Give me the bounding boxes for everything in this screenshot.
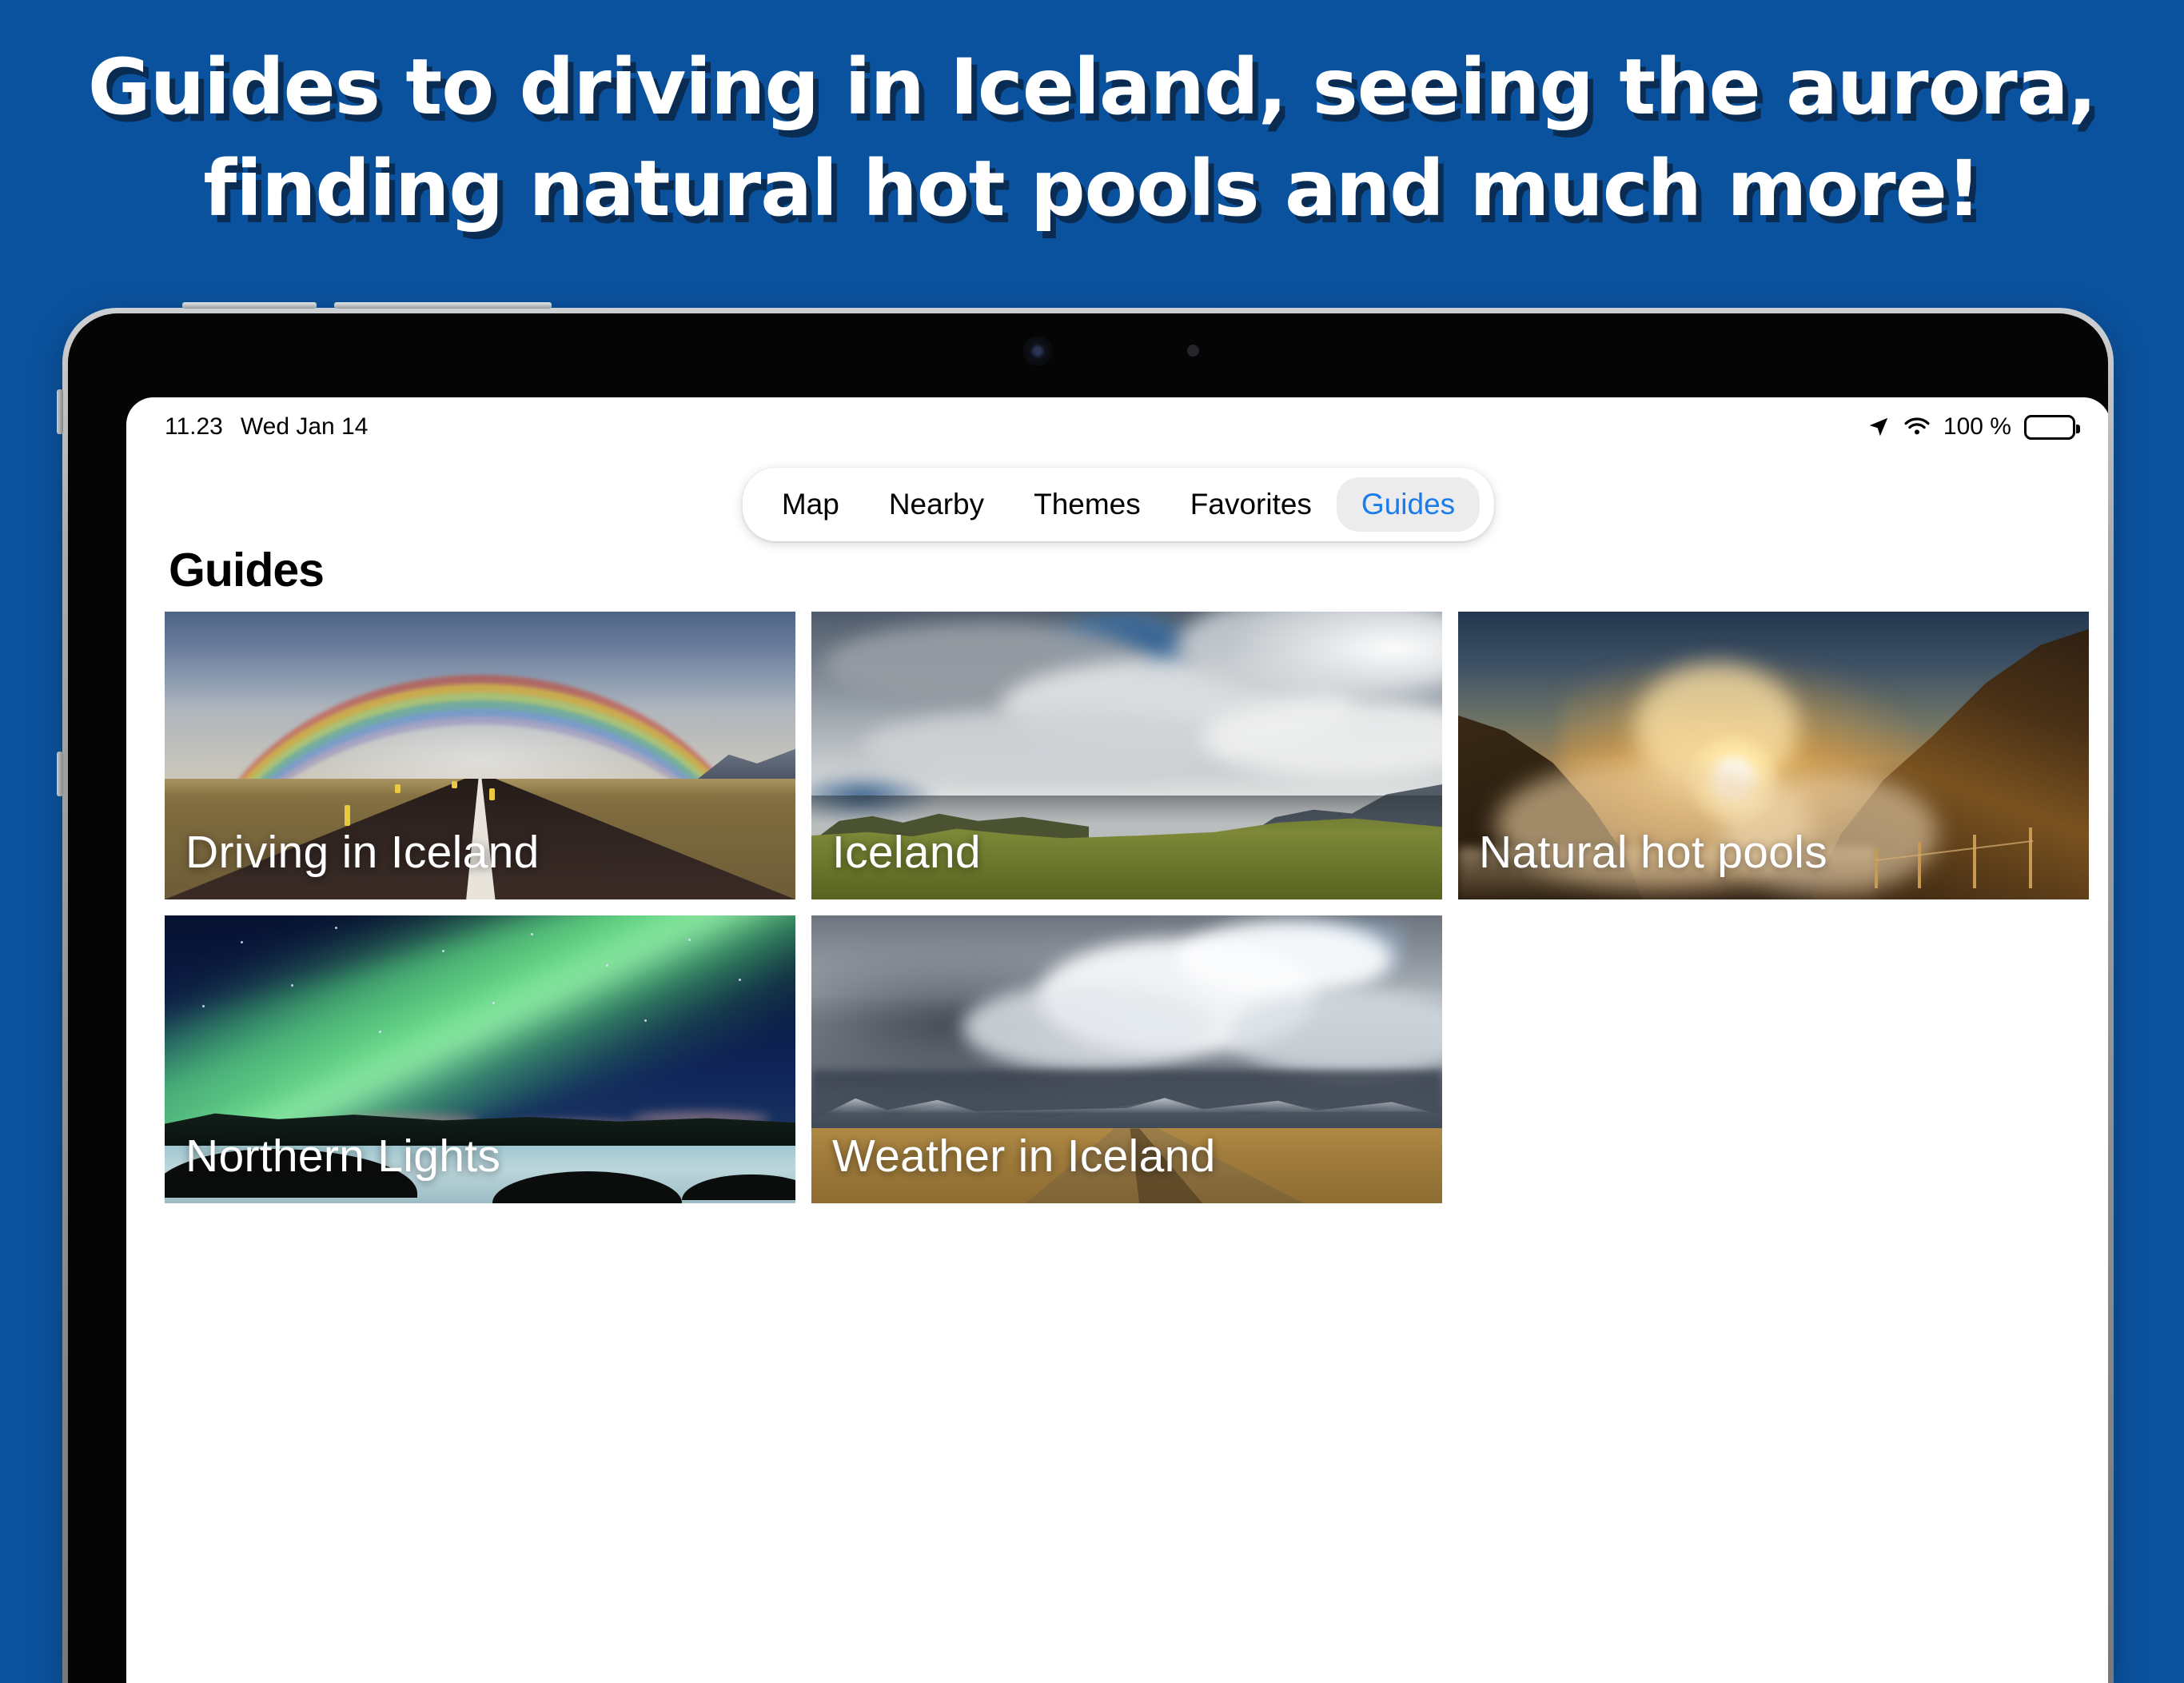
guide-card-label: Weather in Iceland <box>832 1130 1216 1182</box>
tab-nearby[interactable]: Nearby <box>864 477 1009 532</box>
status-bar-right: 100 % <box>1867 413 2075 441</box>
location-arrow-icon <box>1867 415 1891 439</box>
guide-card-northern-lights[interactable]: Northern Lights <box>165 915 795 1203</box>
device-bezel: 11.23 Wed Jan 14 100 % <box>68 313 2108 1683</box>
tab-map[interactable]: Map <box>757 477 864 532</box>
battery-full-icon <box>2024 415 2075 440</box>
tab-guides[interactable]: Guides <box>1337 477 1480 532</box>
status-date: Wed Jan 14 <box>241 413 369 441</box>
promo-headline: Guides to driving in Iceland, seeing the… <box>0 37 2184 239</box>
status-bar: 11.23 Wed Jan 14 100 % <box>126 397 2108 457</box>
status-time: 11.23 <box>165 413 223 441</box>
device-volume-up-button <box>57 389 63 434</box>
tablet-device-frame: 11.23 Wed Jan 14 100 % <box>62 308 2114 1683</box>
guide-card-label: Natural hot pools <box>1479 826 1827 879</box>
guide-card-iceland[interactable]: Iceland <box>811 612 1442 899</box>
front-camera-icon <box>1024 337 1051 365</box>
tab-favorites[interactable]: Favorites <box>1166 477 1337 532</box>
segmented-tab-bar[interactable]: Map Nearby Themes Favorites Guides <box>743 468 1494 541</box>
guides-grid: Driving in Iceland Icel <box>165 612 2067 1203</box>
ambient-sensor-icon <box>1187 345 1199 357</box>
guide-card-label: Northern Lights <box>185 1130 500 1182</box>
battery-percent-label: 100 % <box>1943 413 2011 441</box>
page-title: Guides <box>169 543 324 597</box>
guide-card-label: Iceland <box>832 826 981 879</box>
fence-posts <box>1862 796 2076 887</box>
wifi-icon <box>1903 417 1931 437</box>
device-top-button-1 <box>182 302 317 309</box>
tablet-screen: 11.23 Wed Jan 14 100 % <box>126 397 2108 1683</box>
guide-card-driving-in-iceland[interactable]: Driving in Iceland <box>165 612 795 899</box>
guide-card-label: Driving in Iceland <box>185 826 540 879</box>
device-volume-down-button <box>57 752 63 796</box>
guide-card-weather-in-iceland[interactable]: Weather in Iceland <box>811 915 1442 1203</box>
status-bar-left: 11.23 Wed Jan 14 <box>165 413 368 441</box>
device-top-button-2 <box>334 302 552 309</box>
tab-themes[interactable]: Themes <box>1009 477 1166 532</box>
guide-card-natural-hot-pools[interactable]: Natural hot pools <box>1458 612 2089 899</box>
